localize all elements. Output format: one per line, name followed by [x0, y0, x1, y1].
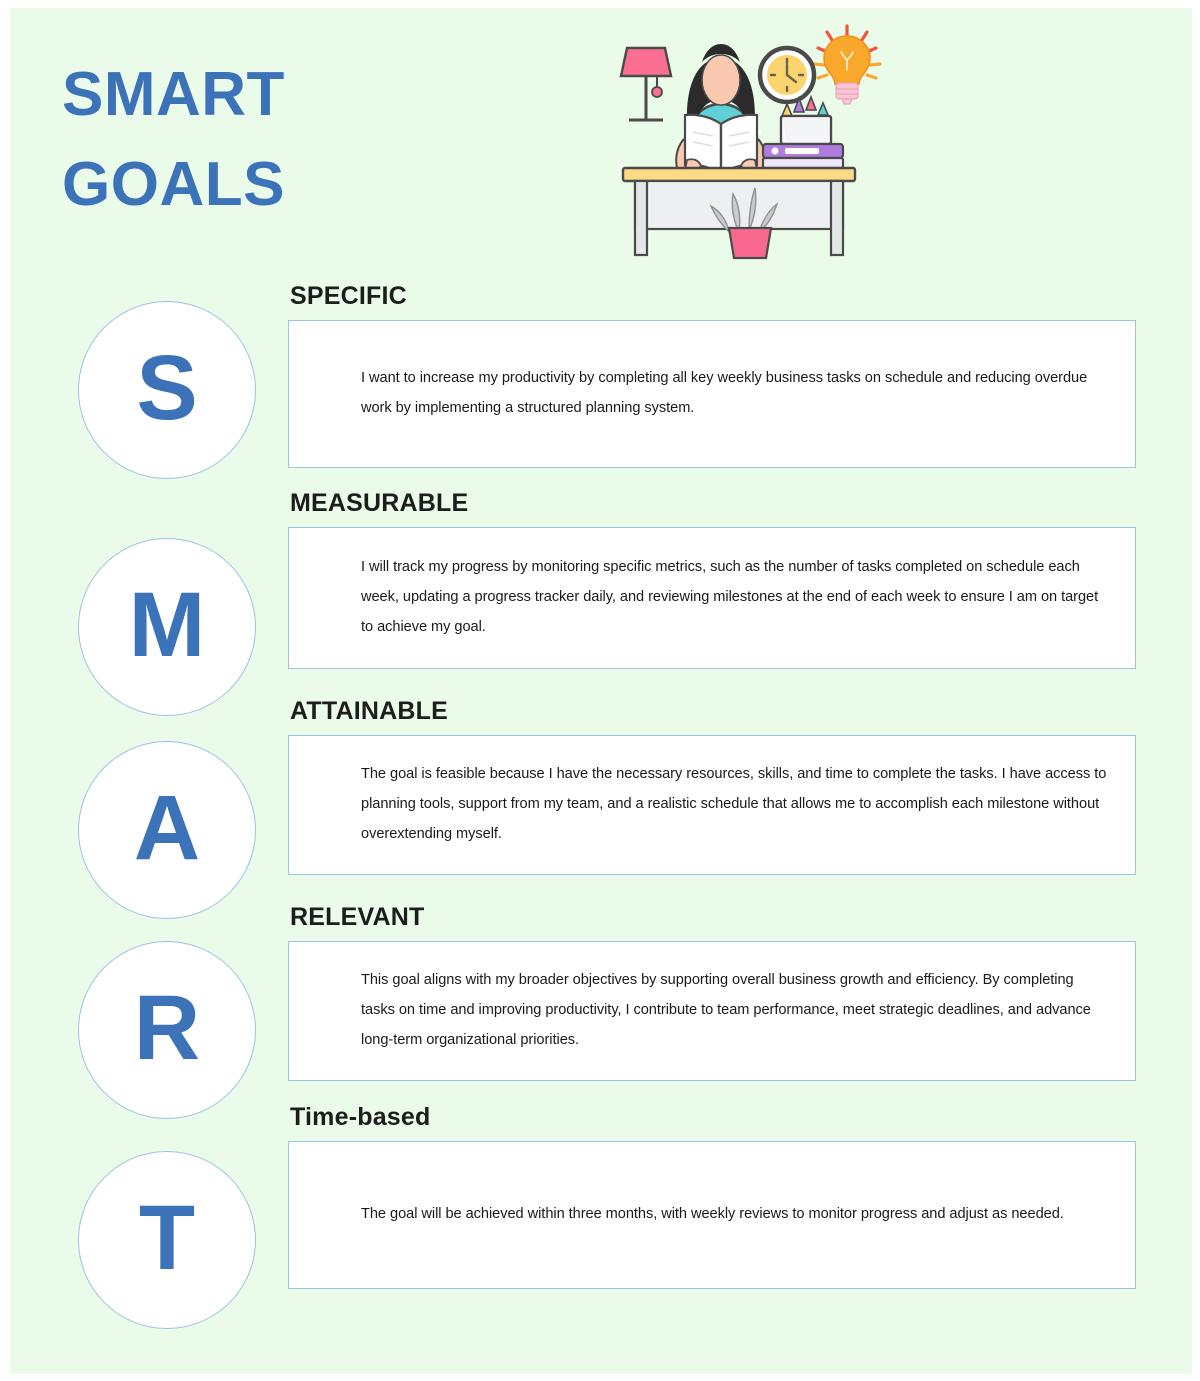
criterion-measurable: MEASURABLE I will track my progress by m… — [288, 489, 1136, 669]
letter-glyph: T — [139, 1192, 195, 1284]
criterion-time-based: Time-based The goal will be achieved wit… — [288, 1103, 1136, 1289]
criterion-body-text: I will track my progress by monitoring s… — [361, 553, 1107, 643]
woman-reading-at-desk-illustration — [615, 20, 895, 260]
letter-glyph: S — [136, 342, 197, 434]
letter-circle-t: T — [78, 1151, 256, 1329]
criterion-heading: Time-based — [290, 1103, 1136, 1132]
letter-circle-m: M — [78, 538, 256, 716]
letter-circle-a: A — [78, 741, 256, 919]
letter-glyph: R — [134, 982, 200, 1074]
criterion-textbox[interactable]: This goal aligns with my broader objecti… — [288, 941, 1136, 1081]
criterion-heading: ATTAINABLE — [290, 697, 1136, 726]
criterion-heading: MEASURABLE — [290, 489, 1136, 518]
criterion-textbox[interactable]: The goal will be achieved within three m… — [288, 1141, 1136, 1289]
letter-circle-r: R — [78, 941, 256, 1119]
criterion-textbox[interactable]: The goal is feasible because I have the … — [288, 735, 1136, 875]
criterion-body-text: This goal aligns with my broader objecti… — [361, 966, 1107, 1056]
letter-circle-s: S — [78, 301, 256, 479]
page-title: SMART GOALS — [62, 50, 482, 230]
letter-glyph: M — [129, 579, 206, 671]
title-line-goals: GOALS — [62, 140, 482, 230]
criterion-body-text: The goal is feasible because I have the … — [361, 760, 1107, 850]
criterion-specific: SPECIFIC I want to increase my productiv… — [288, 282, 1136, 468]
criterion-attainable: ATTAINABLE The goal is feasible because … — [288, 697, 1136, 875]
wall-clock-icon — [760, 48, 814, 102]
criterion-textbox[interactable]: I want to increase my productivity by co… — [288, 320, 1136, 468]
stacked-books-icon — [763, 144, 843, 168]
criterion-body-text: The goal will be achieved within three m… — [361, 1201, 1064, 1229]
lightbulb-icon — [824, 36, 870, 104]
woman-figure — [676, 44, 766, 174]
criterion-heading: SPECIFIC — [290, 282, 1136, 311]
criterion-body-text: I want to increase my productivity by co… — [361, 364, 1107, 424]
criterion-textbox[interactable]: I will track my progress by monitoring s… — [288, 527, 1136, 669]
poster-canvas: SMART GOALS — [10, 8, 1192, 1374]
floor-lamp-icon — [621, 48, 671, 120]
criterion-relevant: RELEVANT This goal aligns with my broade… — [288, 903, 1136, 1081]
title-line-smart: SMART — [62, 50, 482, 140]
letter-glyph: A — [134, 782, 200, 874]
criterion-heading: RELEVANT — [290, 903, 1136, 932]
